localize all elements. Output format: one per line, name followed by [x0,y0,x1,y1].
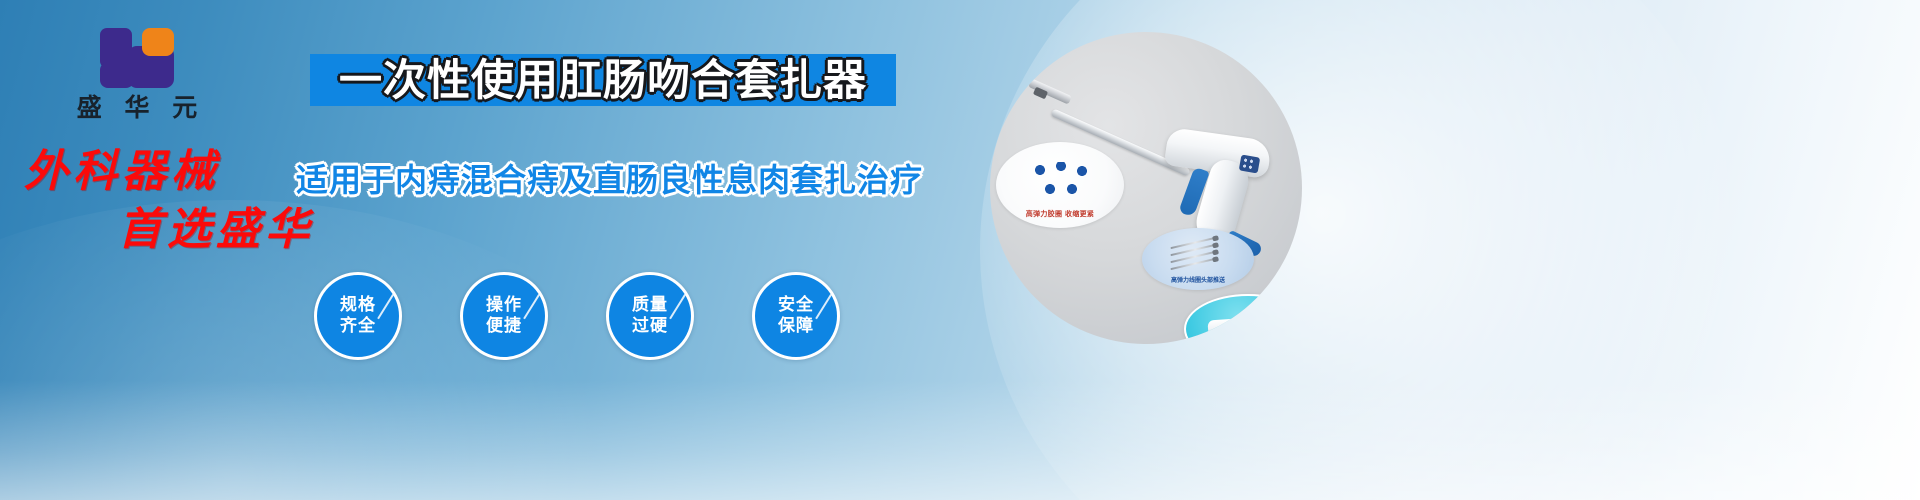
badge-operate-line-2: 便捷 [486,316,522,337]
badge-slash-icon [523,293,541,320]
badge-quality-line-1: 质量 [632,295,668,316]
logo-block-orange [142,28,174,56]
badge-quality-line-2: 过硬 [632,316,668,337]
rubber-rings-inset: 高弹力胶圈 收缩更紧 [996,142,1124,228]
device-tip-inset [1184,294,1302,344]
headline-title: 一次性使用肛肠吻合套扎器 [310,50,896,112]
badge-slash-icon [815,293,833,320]
badge-operate-line-1: 操作 [486,295,522,316]
device-button-dots-icon [1241,157,1258,171]
bottom-fade-overlay [0,380,1920,500]
badge-slash-icon [377,293,395,320]
feature-badge-list: 规格 齐全 操作 便捷 质量 过硬 安全 保障 [314,272,840,360]
badge-quality[interactable]: 质量 过硬 [606,272,694,360]
badge-safety-line-1: 安全 [778,295,814,316]
product-banner: 盛 华 元 一次性使用肛肠吻合套扎器 外科器械 首选盛华 适用于内痔混合痔及直肠… [0,0,1920,500]
badge-slash-icon [669,293,687,320]
shenghuayuan-logo-icon [98,26,176,88]
badge-operate[interactable]: 操作 便捷 [460,272,548,360]
subtitle: 适用于内痔混合痔及直肠良性息肉套扎治疗 [296,158,896,202]
rubber-rings-caption: 高弹力胶圈 收缩更紧 [996,209,1124,219]
badge-spec-line-1: 规格 [340,295,376,316]
brand-logo[interactable]: 盛 华 元 [62,26,212,122]
rubber-rings-icon [1030,162,1092,202]
brand-name: 盛 华 元 [62,95,212,120]
badge-safety[interactable]: 安全 保障 [752,272,840,360]
badge-safety-line-2: 保障 [778,316,814,337]
badge-spec-line-2: 齐全 [340,316,376,337]
badge-spec[interactable]: 规格 齐全 [314,272,402,360]
tip-cap-icon [1271,319,1284,336]
slogan: 外科器械 首选盛华 [18,150,338,265]
slogan-line-1: 外科器械 [24,150,338,194]
slogan-line-2: 首选盛华 [118,208,338,252]
needles-caption: 高弹力线圈头部推送 [1142,275,1254,284]
tip-ring-icon [1249,317,1257,337]
needles-inset: 高弹力线圈头部推送 [1142,228,1254,290]
product-photo: 高弹力胶圈 收缩更紧 高弹力线圈头部推送 [990,32,1302,344]
